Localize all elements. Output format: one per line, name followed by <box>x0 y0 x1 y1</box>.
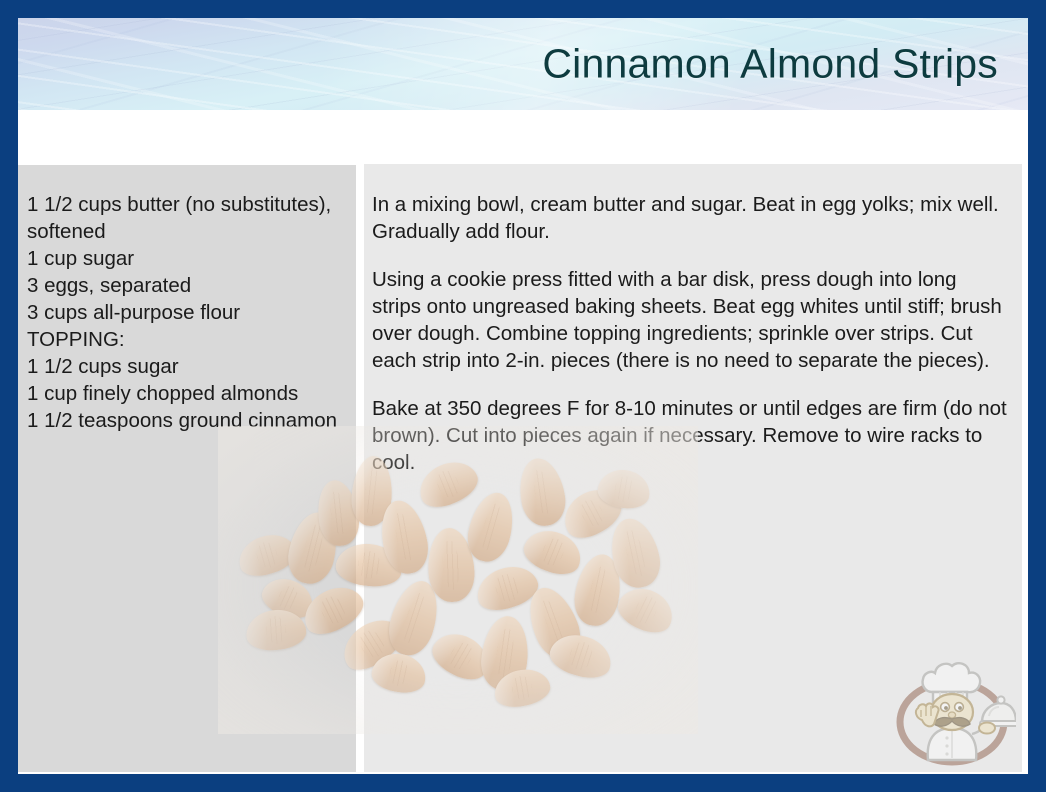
list-item: 3 eggs, separated <box>27 272 346 299</box>
ingredients-list: 1 1/2 cups butter (no substitutes), soft… <box>27 191 346 434</box>
chef-mascot-logo <box>888 648 1016 770</box>
list-item: 1 1/2 teaspoons ground cinnamon <box>27 407 346 434</box>
list-item: TOPPING: <box>27 326 346 353</box>
list-item: 1 1/2 cups butter (no substitutes), soft… <box>27 191 346 245</box>
list-item: 1 1/2 cups sugar <box>27 353 346 380</box>
direction-paragraph: Bake at 350 degrees F for 8-10 minutes o… <box>372 395 1008 476</box>
list-item: 1 cup finely chopped almonds <box>27 380 346 407</box>
direction-paragraph: Using a cookie press fitted with a bar d… <box>372 266 1008 374</box>
list-item: 1 cup sugar <box>27 245 346 272</box>
list-item: 3 cups all-purpose flour <box>27 299 346 326</box>
page-title: Cinnamon Almond Strips <box>542 41 998 88</box>
direction-paragraph: In a mixing bowl, cream butter and sugar… <box>372 191 1008 245</box>
ingredients-panel: 1 1/2 cups butter (no substitutes), soft… <box>18 165 356 772</box>
recipe-slide: Cinnamon Almond Strips Ingredients 1 1/2… <box>0 0 1046 792</box>
title-banner: Cinnamon Almond Strips <box>18 18 1028 110</box>
